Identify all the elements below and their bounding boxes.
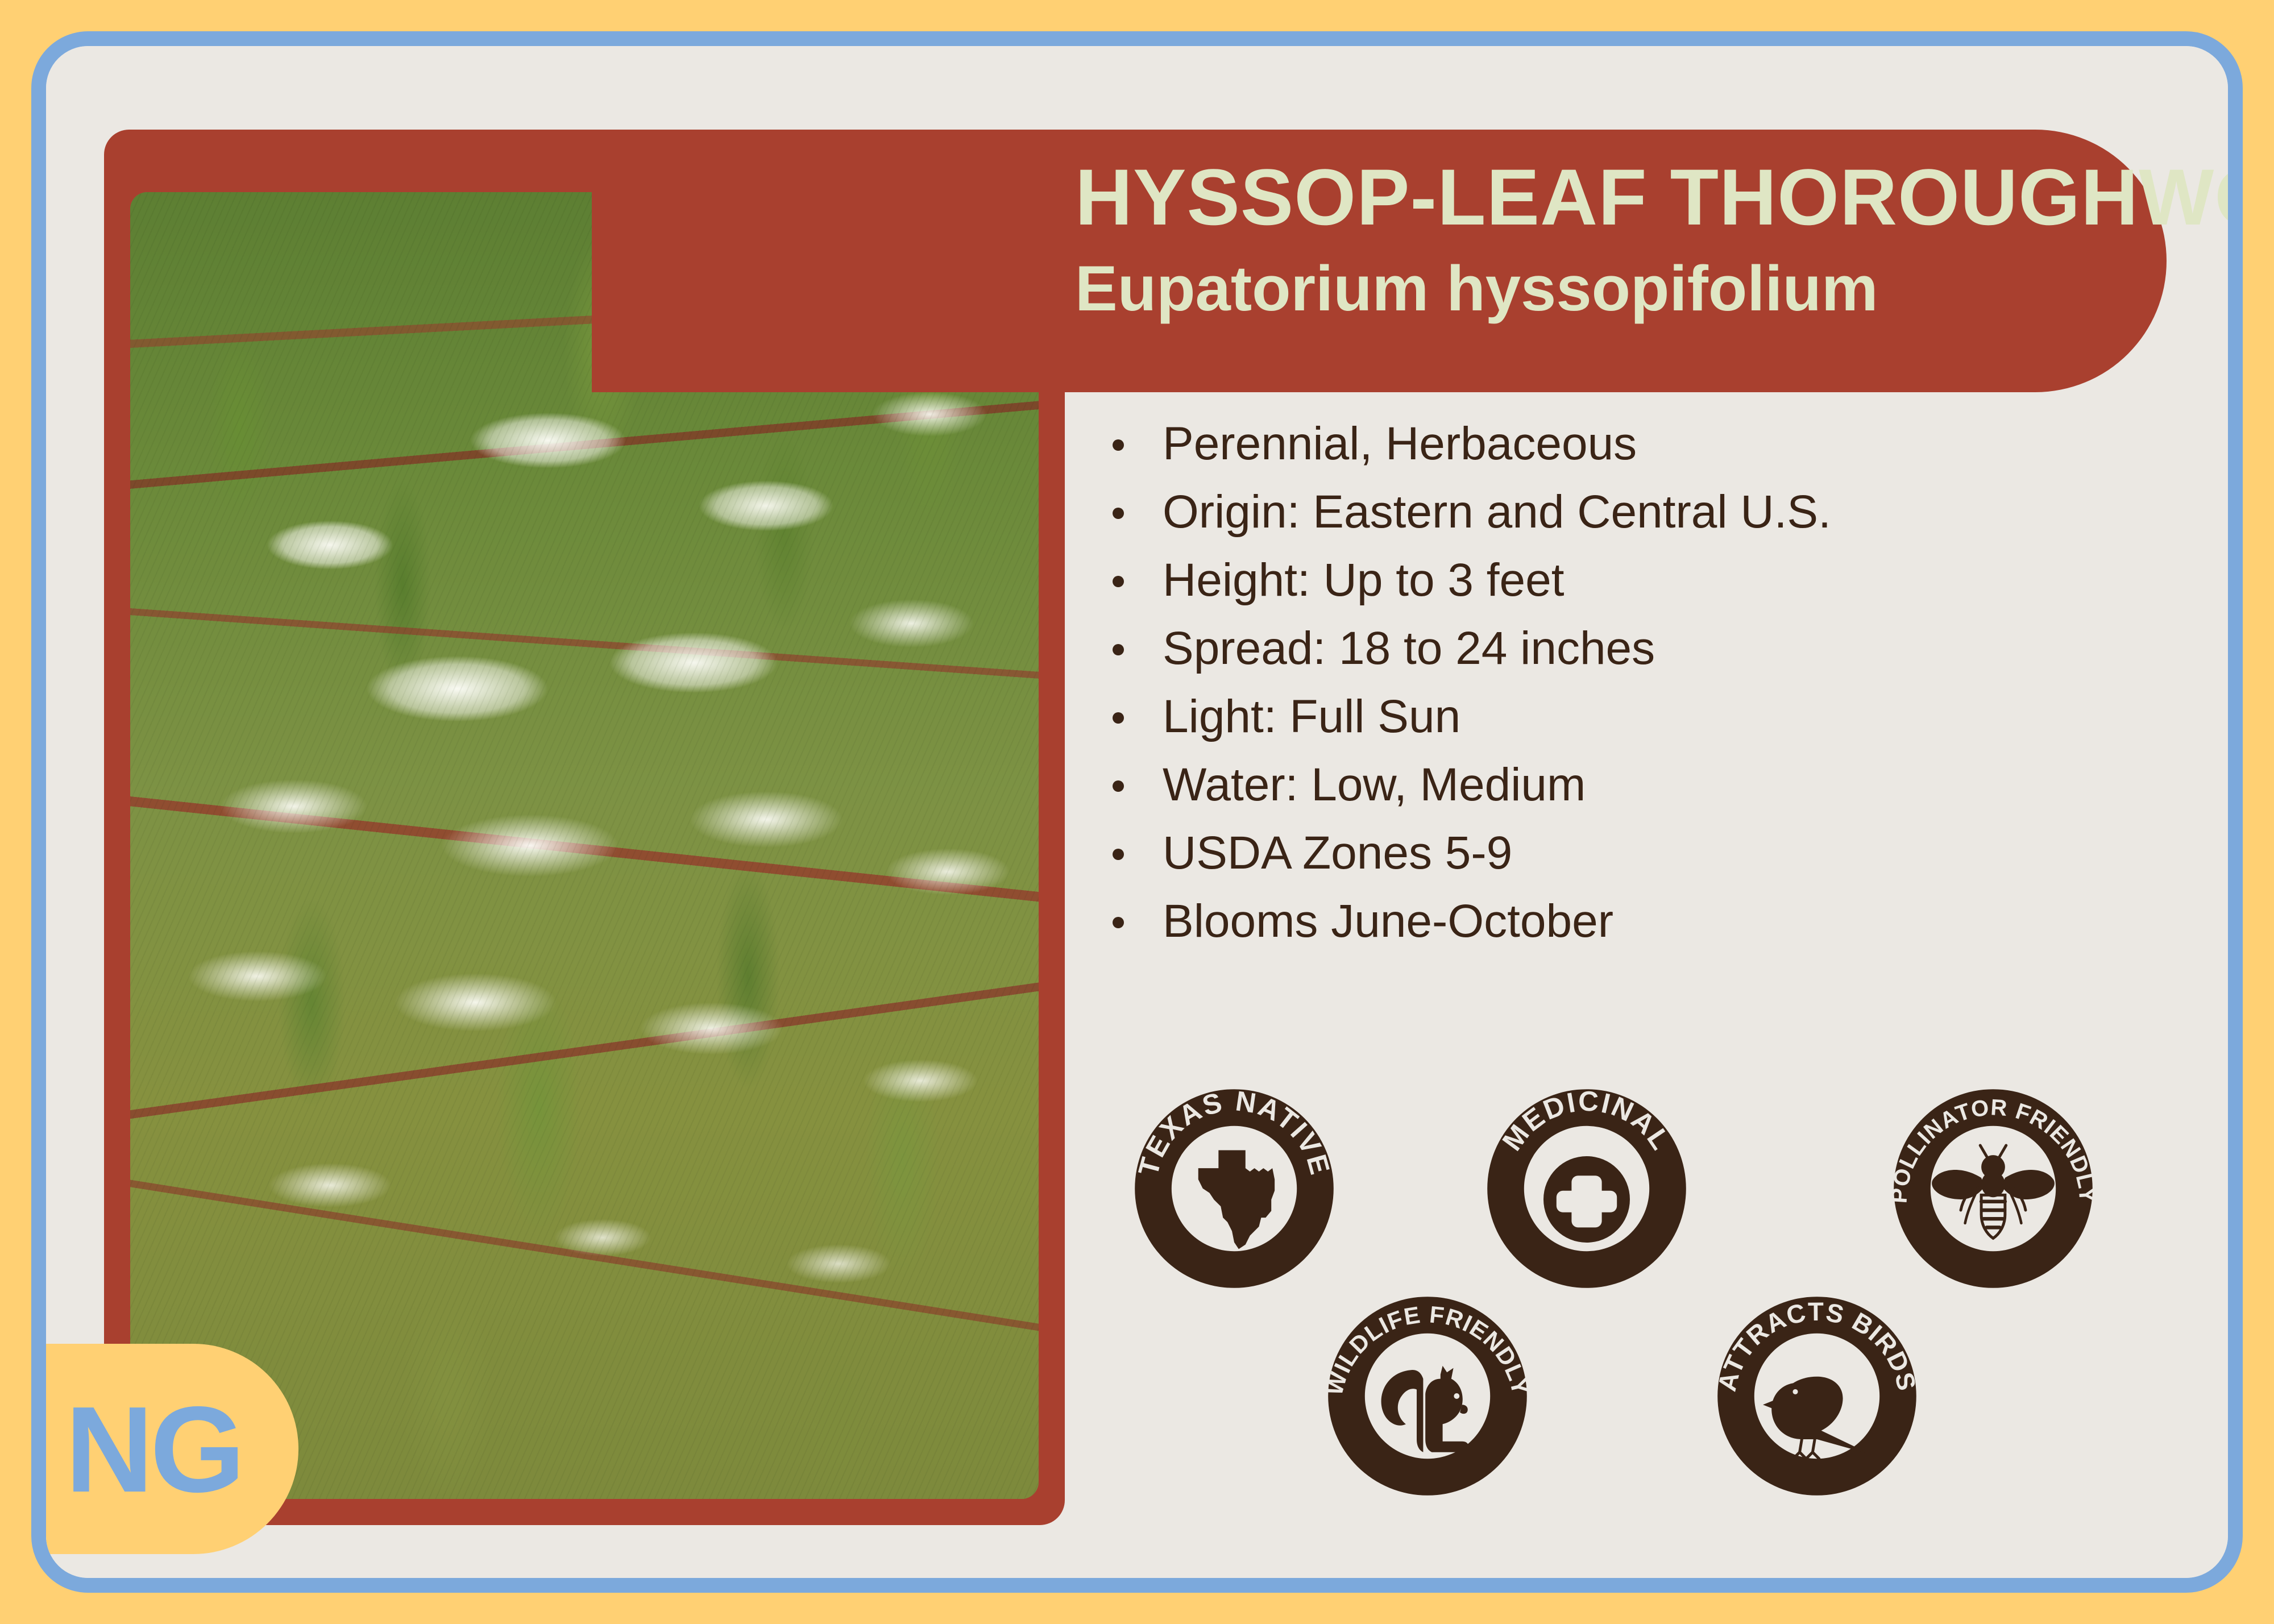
fact-item: Perennial, Herbaceous [1103,410,2127,478]
plant-info-card: HYSSOP-LEAF THOROUGHWORT Eupatorium hyss… [46,46,2228,1578]
ng-logo-text: NG [65,1388,265,1510]
badge-texas-native: TEXAS NATIVE [1126,1081,1342,1297]
badge-pollinator-friendly: POLLINATOR FRIENDLY [1885,1081,2101,1297]
plant-scientific-name: Eupatorium hyssopifolium [1075,252,1878,325]
card-outer-frame: HYSSOP-LEAF THOROUGHWORT Eupatorium hyss… [31,31,2243,1593]
badge-medicinal: MEDICINAL [1479,1081,1695,1297]
bee-icon [1932,1145,2055,1238]
squirrel-icon [1381,1366,1469,1452]
plant-facts-list: Perennial, Herbaceous Origin: Eastern an… [1103,410,2127,956]
title-banner: HYSSOP-LEAF THOROUGHWORT Eupatorium hyss… [592,130,2167,392]
fact-item: Light: Full Sun [1103,683,2127,751]
ng-logo: NG [46,1344,298,1554]
badge-wildlife-friendly: WILDLIFE FRIENDLY [1319,1288,1536,1504]
fact-item: Blooms June-October [1103,887,2127,956]
fact-item: Water: Low, Medium [1103,751,2127,819]
fact-item: USDA Zones 5-9 [1103,819,2127,887]
badge-attracts-birds: ATTRACTS BIRDS [1709,1288,1925,1504]
fact-item: Spread: 18 to 24 inches [1103,614,2127,683]
texas-state-icon [1198,1150,1275,1249]
plant-common-name: HYSSOP-LEAF THOROUGHWORT [1075,151,2228,243]
fact-item: Height: Up to 3 feet [1103,546,2127,614]
fact-item: Origin: Eastern and Central U.S. [1103,478,2127,546]
attribute-badges: TEXAS NATIVE MEDICINAL [1115,1069,2167,1558]
medical-cross-icon [1543,1156,1630,1243]
